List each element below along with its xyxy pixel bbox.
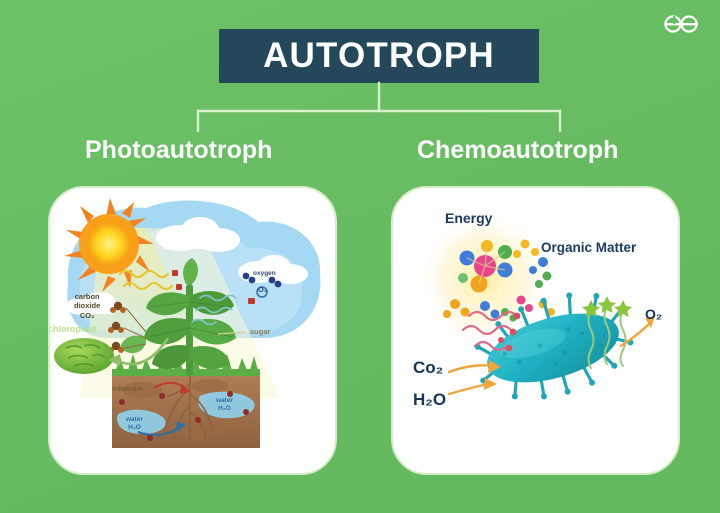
- poster-root: AUTOTROPH Photoautotroph Chemoautotroph: [0, 0, 720, 513]
- panel-chemoautotroph[interactable]: Energy Organic Matter Co₂ H₂O O₂: [391, 186, 680, 475]
- label-o2: O₂: [645, 306, 662, 322]
- page-title-box: AUTOTROPH: [219, 29, 539, 83]
- label-oxygen: oxygen: [253, 270, 276, 277]
- page-title: AUTOTROPH: [263, 36, 495, 76]
- label-water-left-formula: H₂O: [126, 424, 143, 432]
- label-h2o: H₂O: [413, 390, 446, 410]
- label-water-left: water H₂O: [126, 416, 143, 432]
- label-sugar: sugar: [250, 327, 270, 336]
- label-organic-matter: Organic Matter: [541, 240, 636, 255]
- label-chloroplast: chloroplast: [50, 324, 97, 334]
- branch-label-chemoautotroph: Chemoautotroph: [417, 136, 618, 165]
- label-water-right-formula: H₂O: [216, 405, 233, 413]
- panel-photoautotroph[interactable]: carbon dioxide CO₂ chloroplast oxygen O₂…: [48, 186, 337, 475]
- label-carbon-dioxide-line2: dioxide: [74, 301, 100, 310]
- geeksforgeeks-logo[interactable]: [656, 10, 708, 36]
- label-water-right: water H₂O: [216, 397, 233, 413]
- label-water-left-text: water: [126, 416, 143, 424]
- chemosynthesis-illustration: [393, 188, 674, 469]
- label-carbon-dioxide: carbon dioxide CO₂: [74, 292, 100, 320]
- label-carbon-dioxide-formula: CO₂: [74, 311, 100, 320]
- label-carbon-dioxide-line1: carbon: [74, 292, 100, 301]
- label-oxygen-formula: O₂: [258, 285, 267, 294]
- panel-photoautotroph-inner: carbon dioxide CO₂ chloroplast oxygen O₂…: [50, 188, 335, 473]
- label-co2: Co₂: [413, 358, 443, 378]
- panel-chemoautotroph-inner: Energy Organic Matter Co₂ H₂O O₂: [393, 188, 678, 473]
- chloroplast-icon: [54, 338, 114, 374]
- label-minerals: minerals: [112, 384, 143, 393]
- label-energy: Energy: [445, 210, 492, 226]
- label-water-right-text: water: [216, 397, 233, 405]
- branch-label-photoautotroph: Photoautotroph: [85, 136, 272, 165]
